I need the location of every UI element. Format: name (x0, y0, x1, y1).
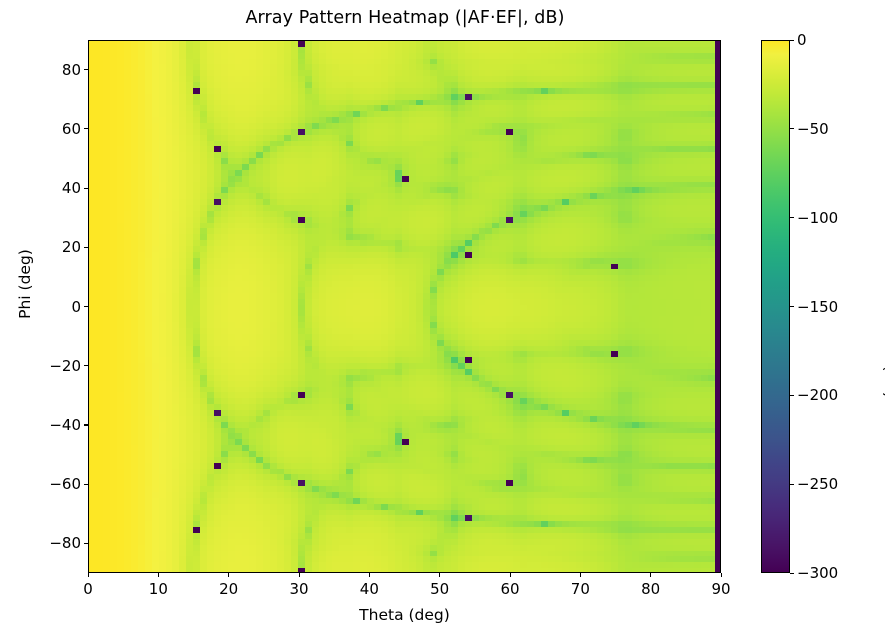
heatmap-image (89, 41, 721, 573)
x-tick-label: 80 (641, 580, 660, 598)
x-tick-mark (510, 573, 511, 577)
colorbar-tick-label: 0 (797, 31, 807, 49)
y-tick-label: 80 (62, 61, 81, 79)
x-tick-label: 50 (430, 580, 449, 598)
x-tick-label: 60 (500, 580, 519, 598)
x-tick-mark (158, 573, 159, 577)
x-tick-label: 40 (360, 580, 379, 598)
colorbar-label: Normalized Gain (dB) (881, 215, 885, 415)
x-tick-label: 30 (289, 580, 308, 598)
colorbar-tick-label: −200 (797, 386, 838, 404)
y-tick-mark (84, 128, 88, 129)
colorbar-tick-label: −50 (797, 120, 829, 138)
y-tick-mark (84, 484, 88, 485)
y-tick-mark (84, 306, 88, 307)
x-axis-label: Theta (deg) (88, 606, 721, 624)
colorbar-tick-label: −100 (797, 209, 838, 227)
y-tick-label: −80 (49, 534, 81, 552)
x-tick-mark (369, 573, 370, 577)
y-axis-label: Phi (deg) (16, 204, 34, 364)
y-tick-mark (84, 69, 88, 70)
x-tick-mark (721, 573, 722, 577)
y-tick-label: 40 (62, 179, 81, 197)
colorbar-tick-label: −150 (797, 298, 838, 316)
x-tick-mark (299, 573, 300, 577)
x-tick-mark (650, 573, 651, 577)
y-tick-label: 60 (62, 120, 81, 138)
x-tick-label: 90 (711, 580, 730, 598)
colorbar-tick-mark (790, 217, 794, 218)
x-tick-mark (88, 573, 89, 577)
colorbar-tick-label: −250 (797, 475, 838, 493)
colorbar-tick-mark (790, 128, 794, 129)
y-tick-label: −60 (49, 475, 81, 493)
colorbar-tick-label: −300 (797, 564, 838, 582)
y-tick-mark (84, 247, 88, 248)
x-tick-label: 20 (219, 580, 238, 598)
colorbar-gradient (762, 41, 789, 572)
colorbar-tick-mark (790, 40, 794, 41)
x-tick-label: 0 (83, 580, 93, 598)
colorbar-tick-mark (790, 395, 794, 396)
x-tick-label: 10 (149, 580, 168, 598)
x-tick-mark (439, 573, 440, 577)
y-tick-label: −40 (49, 416, 81, 434)
y-tick-label: −20 (49, 357, 81, 375)
colorbar-tick-mark (790, 484, 794, 485)
colorbar-tick-mark (790, 573, 794, 574)
colorbar[interactable] (761, 40, 790, 573)
y-tick-label: 20 (62, 238, 81, 256)
x-tick-label: 70 (571, 580, 590, 598)
colorbar-tick-mark (790, 306, 794, 307)
x-tick-mark (228, 573, 229, 577)
y-tick-mark (84, 365, 88, 366)
y-tick-label: 0 (71, 298, 81, 316)
y-tick-mark (84, 188, 88, 189)
chart-title: Array Pattern Heatmap (|AF·EF|, dB) (0, 8, 810, 28)
y-tick-mark (84, 543, 88, 544)
y-tick-mark (84, 424, 88, 425)
x-tick-mark (580, 573, 581, 577)
heatmap-plot-area[interactable] (88, 40, 721, 573)
figure-canvas: Array Pattern Heatmap (|AF·EF|, dB) 0102… (0, 0, 885, 637)
